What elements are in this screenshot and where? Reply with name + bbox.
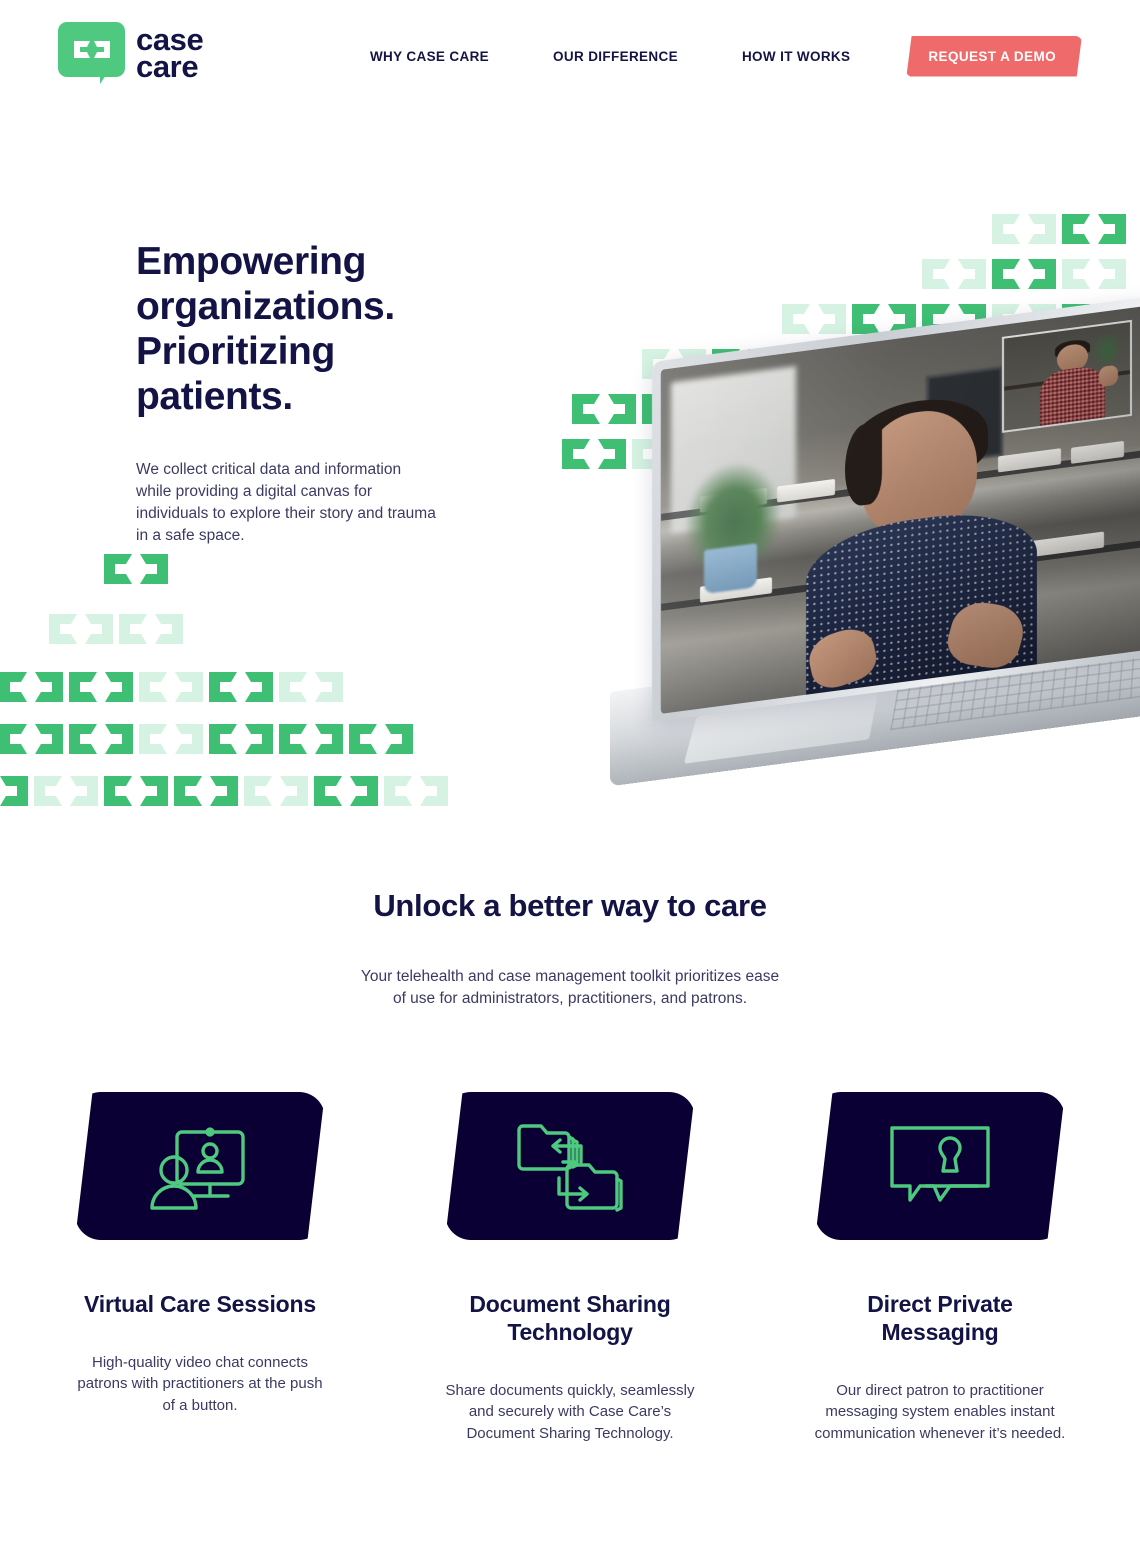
nav-link-our-difference[interactable]: OUR DIFFERENCE: [521, 49, 710, 64]
brand-word-line2: care: [136, 53, 203, 80]
thumbnail-waving-hand: [1099, 364, 1118, 387]
nav-link-how-it-works[interactable]: HOW IT WORKS: [710, 49, 882, 64]
feature-card-title: Virtual Care Sessions: [70, 1290, 330, 1318]
folder-exchange-icon: [515, 1118, 625, 1214]
request-a-demo-button[interactable]: REQUEST A DEMO: [906, 36, 1082, 77]
participant-hair-side: [845, 422, 882, 507]
hero-section: Empowering organizations. Prioritizing p…: [0, 112, 1140, 828]
hero-title: Empowering organizations. Prioritizing p…: [136, 240, 486, 419]
feature-icon-badge: [445, 1092, 695, 1240]
nav-link-why-case-care[interactable]: WHY CASE CARE: [338, 49, 521, 64]
feature-icon-badge: [75, 1092, 325, 1240]
feature-card-text: High-quality video chat connects patrons…: [71, 1352, 329, 1416]
laptop-lid: [652, 296, 1140, 722]
case-care-bracket-logo-icon: [58, 22, 125, 84]
hero-subtitle: We collect critical data and information…: [136, 459, 436, 547]
feature-card-title: Direct Private Messaging: [810, 1290, 1070, 1346]
site-header: case care WHY CASE CARE OUR DIFFERENCE H…: [0, 0, 1140, 112]
video-plant-pot: [704, 543, 757, 595]
laptop-screen: [661, 306, 1140, 713]
features-heading: Unlock a better way to care: [0, 888, 1140, 924]
feature-card-text: Our direct patron to practitioner messag…: [811, 1380, 1069, 1444]
feature-card-title: Document Sharing Technology: [440, 1290, 700, 1346]
hero-copy: Empowering organizations. Prioritizing p…: [136, 240, 486, 547]
feature-card-list: Virtual Care Sessions High-quality video…: [50, 1092, 1090, 1444]
features-subheading: Your telehealth and case management tool…: [360, 966, 780, 1011]
video-call-feed: [661, 306, 1140, 713]
video-participant-thumbnail[interactable]: [1002, 320, 1132, 433]
video-call-monitor-icon: [144, 1120, 256, 1212]
logo-bubble-tail: [100, 72, 108, 84]
main-navigation: WHY CASE CARE OUR DIFFERENCE HOW IT WORK…: [338, 0, 1082, 112]
feature-card-document-sharing[interactable]: Document Sharing Technology Share docume…: [420, 1092, 720, 1444]
features-section: Unlock a better way to care Your telehea…: [0, 828, 1140, 1542]
feature-card-private-messaging[interactable]: Direct Private Messaging Our direct patr…: [790, 1092, 1090, 1444]
brand-wordmark: case care: [136, 26, 203, 81]
feature-card-text: Share documents quickly, seamlessly and …: [441, 1380, 699, 1444]
chat-bubble-lock-icon: [886, 1122, 994, 1210]
video-participant-main: [806, 396, 1037, 695]
thumbnail-torso: [1040, 364, 1106, 426]
feature-card-virtual-care[interactable]: Virtual Care Sessions High-quality video…: [50, 1092, 350, 1416]
logo-bracket-glyphs: [71, 37, 113, 62]
feature-icon-badge: [815, 1092, 1065, 1240]
hero-laptop-image: [652, 362, 1140, 828]
brand-logo[interactable]: case care: [58, 22, 203, 84]
bracket-pattern-decor-left: [0, 552, 512, 828]
